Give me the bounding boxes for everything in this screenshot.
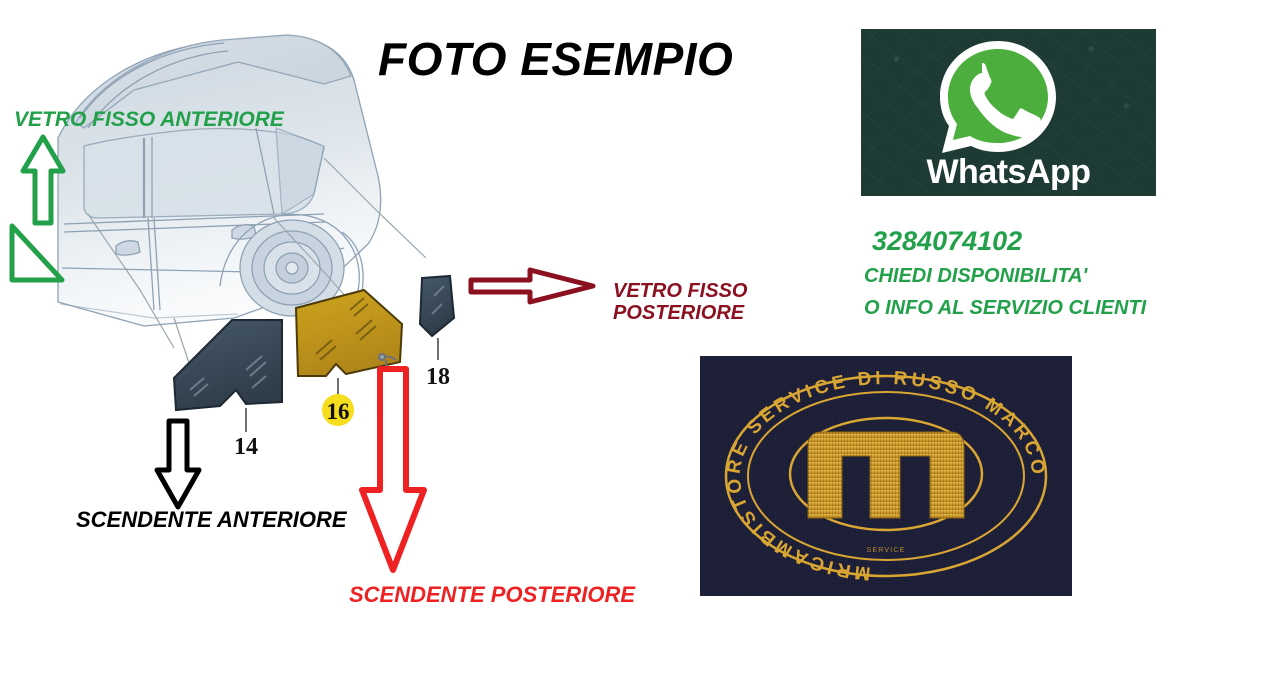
label-scendente-posteriore: SCENDENTE POSTERIORE <box>349 583 635 608</box>
black-down-arrow-icon <box>152 418 204 510</box>
page-title: FOTO ESEMPIO <box>378 34 733 86</box>
phone-number[interactable]: 3284074102 <box>872 226 1022 257</box>
shop-logo-subtext: SERVICE <box>866 547 905 554</box>
contact-service-line: O INFO AL SERVIZIO CLIENTI <box>864 297 1146 320</box>
glass-part-14 <box>174 320 282 410</box>
part-number-16: 16 <box>327 399 350 424</box>
green-up-arrow-icon <box>20 134 66 226</box>
whatsapp-wordmark: WhatsApp <box>861 153 1156 192</box>
shop-logo-banner: MRICAMBISTORE SERVICE DI RUSSO MARCO SER… <box>700 356 1072 596</box>
label-vetro-fisso-anteriore: VETRO FISSO ANTERIORE <box>14 108 284 132</box>
part-number-14: 14 <box>234 434 258 460</box>
contact-availability-line: CHIEDI DISPONIBILITA' <box>864 265 1087 288</box>
label-vetro-fisso-posteriore: VETRO FISSO POSTERIORE <box>613 280 747 325</box>
red-down-arrow-icon <box>358 366 428 574</box>
whatsapp-phone-icon <box>936 37 1066 159</box>
glass-part-18 <box>420 276 454 336</box>
shop-logo-artwork: MRICAMBISTORE SERVICE DI RUSSO MARCO SER… <box>700 356 1072 596</box>
screenshot-canvas: 14 18 17 16 FOTO ESEMPIO VETRO FISSO ANT… <box>0 0 1264 678</box>
green-triangle-icon <box>8 222 66 284</box>
dark-red-right-arrow-icon <box>468 266 596 306</box>
whatsapp-banner[interactable]: WhatsApp <box>861 29 1156 196</box>
part-number-18: 18 <box>426 364 450 390</box>
shop-logo-monogram <box>808 432 964 518</box>
part-badge-16: 16 <box>322 394 354 426</box>
label-scendente-anteriore: SCENDENTE ANTERIORE <box>76 508 347 533</box>
